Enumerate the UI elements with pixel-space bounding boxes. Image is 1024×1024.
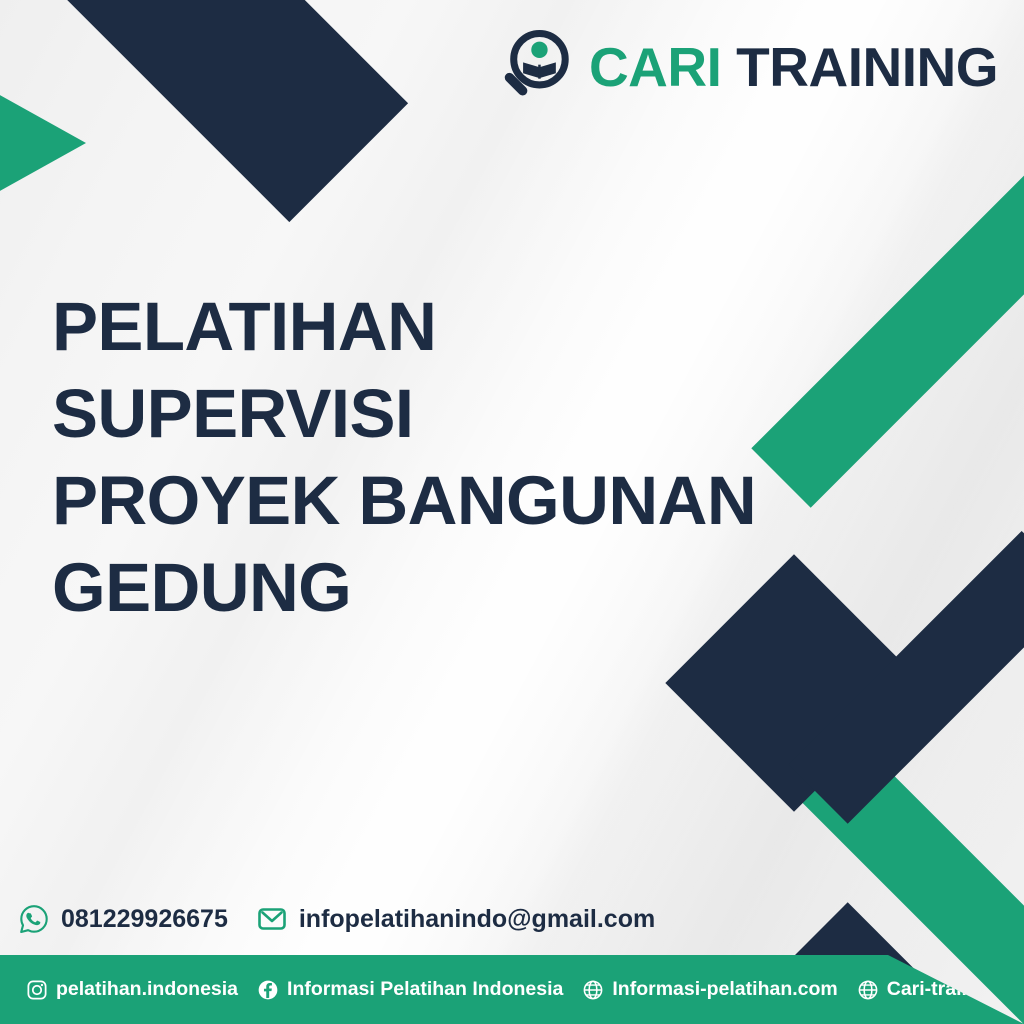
contact-whatsapp-label: 081229926675 [61, 905, 228, 934]
brand-word-cari: CARI [589, 36, 721, 98]
footer-bar: pelatihan.indonesia Informasi Pelatihan … [0, 955, 1024, 1024]
globe-icon [582, 979, 604, 1001]
page-title-line-2: PROYEK BANGUNAN [52, 458, 812, 545]
brand-logo[interactable]: CARI TRAINING [495, 28, 998, 106]
footer-item-facebook-label: Informasi Pelatihan Indonesia [287, 978, 563, 1001]
contact-email-label: infopelatihanindo@gmail.com [299, 905, 655, 934]
instagram-icon [26, 979, 48, 1001]
brand-word-training: TRAINING [736, 36, 998, 98]
footer-item-instagram[interactable]: pelatihan.indonesia [26, 978, 238, 1001]
page-title-line-1: PELATIHAN SUPERVISI [52, 284, 812, 458]
footer-item-website-informasi[interactable]: Informasi-pelatihan.com [582, 978, 837, 1001]
brand-wordmark: CARI TRAINING [589, 40, 998, 95]
globe-icon [857, 979, 879, 1001]
contact-email[interactable]: infopelatihanindo@gmail.com [256, 903, 655, 935]
facebook-icon [257, 979, 279, 1001]
footer-links: pelatihan.indonesia Informasi Pelatihan … [26, 955, 1024, 1024]
footer-item-instagram-label: pelatihan.indonesia [56, 978, 238, 1001]
contact-strip: 081229926675 infopelatihanindo@gmail.com [18, 903, 655, 935]
page-title: PELATIHAN SUPERVISI PROYEK BANGUNAN GEDU… [52, 284, 812, 632]
poster-canvas: CARI TRAINING PELATIHAN SUPERVISI PROYEK… [0, 0, 1024, 1024]
green-triangle-left [0, 55, 86, 231]
footer-item-facebook[interactable]: Informasi Pelatihan Indonesia [257, 978, 563, 1001]
magnifier-book-logo-icon [495, 28, 573, 106]
footer-item-website-informasi-label: Informasi-pelatihan.com [612, 978, 837, 1001]
contact-whatsapp[interactable]: 081229926675 [18, 903, 228, 935]
whatsapp-icon [18, 903, 50, 935]
email-icon [256, 903, 288, 935]
page-title-line-3: GEDUNG [52, 545, 812, 632]
